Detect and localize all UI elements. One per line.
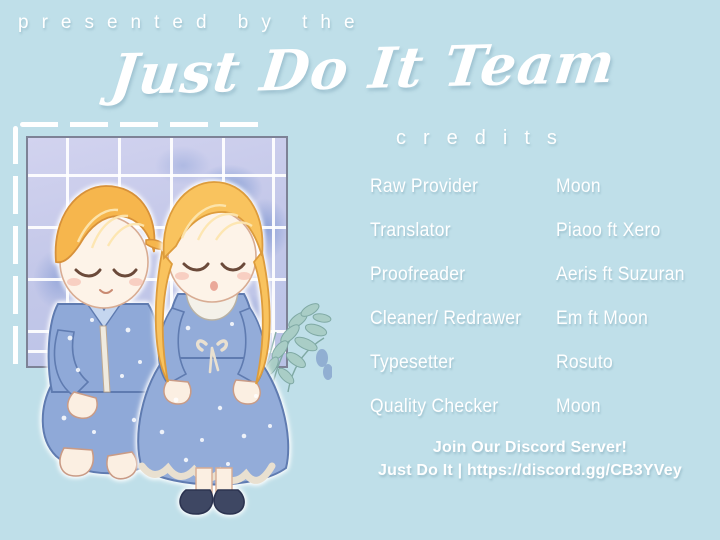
credit-role-label: Quality Checker (370, 396, 498, 418)
dashed-frame-top (20, 122, 270, 127)
credit-role-label: Typesetter (370, 352, 454, 374)
discord-invite-line: Just Do It | https://discord.gg/CB3YVey (340, 459, 720, 483)
credit-row-typesetter: Typesetter Rosuto (370, 352, 710, 376)
credit-row-cleaner-redrawer: Cleaner/ Redrawer Em ft Moon (370, 308, 710, 332)
credit-name-value: Moon (556, 176, 601, 198)
credit-row-raw-provider: Raw Provider Moon (370, 176, 710, 200)
illustration (0, 108, 340, 528)
credit-name-value: Em ft Moon (556, 308, 648, 330)
credit-name-value: Moon (556, 396, 601, 418)
credit-role-label: Translator (370, 220, 451, 242)
credit-role-label: Proofreader (370, 264, 465, 286)
team-title: Just Do It Team (107, 30, 619, 108)
credit-name-value: Aeris ft Suzuran (556, 264, 685, 286)
credit-row-proofreader: Proofreader Aeris ft Suzuran (370, 264, 710, 288)
credit-row-quality-checker: Quality Checker Moon (370, 396, 710, 420)
credits-heading: credits (396, 127, 574, 150)
credit-role-label: Cleaner/ Redrawer (370, 308, 521, 330)
credits-page: presented by the Just Do It Team (0, 0, 720, 540)
girl-chibi-character (128, 168, 298, 518)
presented-by-text: presented by the (18, 12, 368, 34)
discord-invite-heading: Join Our Discord Server! (340, 437, 720, 459)
discord-invite-url[interactable]: https://discord.gg/CB3YVey (467, 462, 682, 479)
dashed-frame-left (13, 126, 18, 368)
discord-team-name: Just Do It (378, 462, 453, 479)
discord-footer: Join Our Discord Server! Just Do It | ht… (340, 437, 720, 483)
discord-separator: | (458, 462, 463, 479)
credit-row-translator: Translator Piaoo ft Xero (370, 220, 710, 244)
credit-role-label: Raw Provider (370, 176, 478, 198)
credit-name-value: Rosuto (556, 352, 613, 374)
credit-name-value: Piaoo ft Xero (556, 220, 661, 242)
